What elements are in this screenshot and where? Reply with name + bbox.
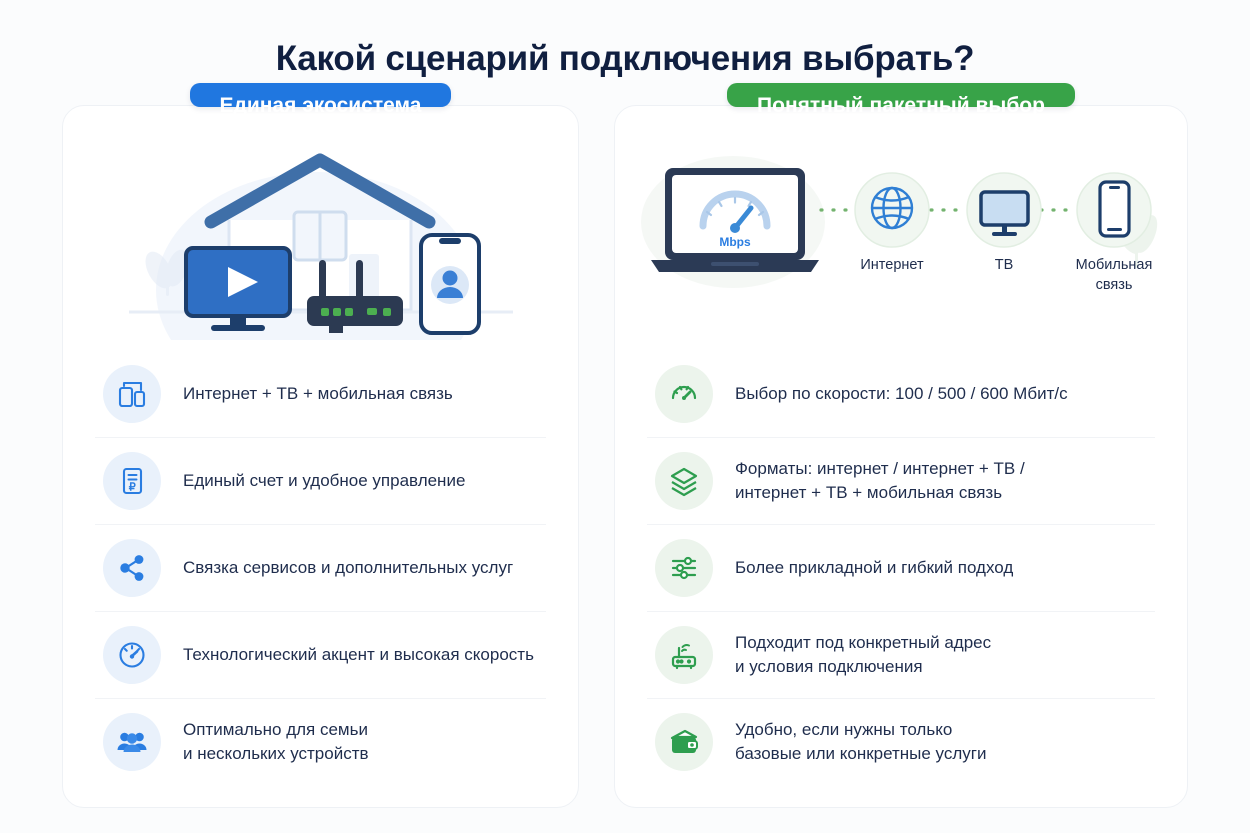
laptop-speed-test: Mbps: [651, 168, 819, 272]
feature-label: Связка сервисов и дополнительных услуг: [183, 556, 513, 580]
column-ecosystem: Единая экосистема: [62, 105, 579, 808]
node-internet: Интернет: [855, 173, 929, 273]
svg-text:Мобильная: Мобильная: [1076, 257, 1153, 273]
feature-row[interactable]: Выбор по скорости: 100 / 500 / 600 Мбит/…: [647, 351, 1155, 438]
share-nodes-icon: [103, 539, 161, 597]
node-mobile: Мобильная связь: [1076, 173, 1153, 293]
feature-label: Удобно, если нужны только базовые или ко…: [735, 718, 986, 766]
svg-text:₽: ₽: [129, 482, 136, 494]
svg-text:Mbps: Mbps: [719, 235, 751, 249]
gauge-icon: [655, 365, 713, 423]
sliders-icon: [655, 539, 713, 597]
layers-icon: [655, 452, 713, 510]
feature-row[interactable]: ₽ Единый счет и удобное управление: [95, 438, 546, 525]
features-ecosystem: Интернет + ТВ + мобильная связь ₽ Единый…: [89, 351, 552, 785]
card-packages: Mbps: [614, 105, 1188, 808]
svg-text:Интернет: Интернет: [860, 257, 924, 273]
feature-row[interactable]: Технологический акцент и высокая скорост…: [95, 612, 546, 699]
feature-row[interactable]: Подходит под конкретный адрес и условия …: [647, 612, 1155, 699]
feature-row[interactable]: Удобно, если нужны только базовые или ко…: [647, 699, 1155, 785]
wallet-icon: [655, 713, 713, 771]
feature-label: Оптимально для семьи и нескольких устрой…: [183, 718, 369, 766]
feature-row[interactable]: Интернет + ТВ + мобильная связь: [95, 351, 546, 438]
node-tv: ТВ: [967, 173, 1041, 273]
scenario-columns: Единая экосистема: [0, 105, 1250, 808]
devices-icon: [103, 365, 161, 423]
feature-row[interactable]: Более прикладной и гибкий подход: [647, 525, 1155, 612]
card-ecosystem: Интернет + ТВ + мобильная связь ₽ Единый…: [62, 105, 579, 808]
family-group-icon: [103, 713, 161, 771]
feature-label: Более прикладной и гибкий подход: [735, 556, 1013, 580]
packages-flow-illustration: Mbps: [641, 150, 1161, 345]
feature-label: Выбор по скорости: 100 / 500 / 600 Мбит/…: [735, 382, 1068, 406]
feature-row[interactable]: Форматы: интернет / интернет + ТВ / инте…: [647, 438, 1155, 525]
smartphone-with-avatar: [421, 235, 479, 333]
home-ecosystem-illustration: [89, 150, 552, 345]
bill-ruble-icon: ₽: [103, 452, 161, 510]
badge-ecosystem[interactable]: Единая экосистема: [190, 83, 452, 107]
features-packages: Выбор по скорости: 100 / 500 / 600 Мбит/…: [641, 351, 1161, 785]
router-icon: [655, 626, 713, 684]
speedometer-icon: [103, 626, 161, 684]
page-title: Какой сценарий подключения выбрать?: [0, 0, 1250, 80]
column-packages: Понятный пакетный выбор: [614, 105, 1188, 808]
feature-label: Технологический акцент и высокая скорост…: [183, 643, 534, 667]
feature-label: Форматы: интернет / интернет + ТВ / инте…: [735, 457, 1025, 505]
feature-label: Интернет + ТВ + мобильная связь: [183, 382, 453, 406]
feature-row[interactable]: Оптимально для семьи и нескольких устрой…: [95, 699, 546, 785]
feature-label: Подходит под конкретный адрес и условия …: [735, 631, 991, 679]
feature-label: Единый счет и удобное управление: [183, 469, 465, 493]
feature-row[interactable]: Связка сервисов и дополнительных услуг: [95, 525, 546, 612]
badge-packages[interactable]: Понятный пакетный выбор: [727, 83, 1075, 107]
svg-text:связь: связь: [1096, 277, 1133, 293]
svg-text:ТВ: ТВ: [995, 257, 1014, 273]
